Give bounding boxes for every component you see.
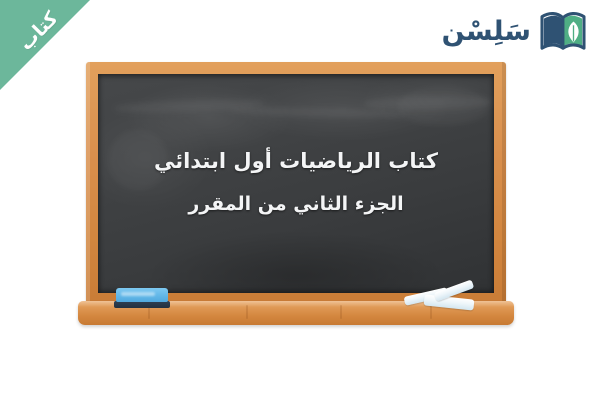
open-book-icon (540, 10, 586, 52)
eraser-base (114, 301, 170, 308)
wood-grain (246, 305, 248, 319)
poster-canvas: كتاب سَلِسْن كتاب الرياضيات أول ابتدائي … (0, 0, 600, 400)
brand-logo[interactable]: سَلِسْن (442, 10, 586, 52)
chalkboard: كتاب الرياضيات أول ابتدائي الجزء الثاني … (86, 62, 506, 305)
eraser-top (116, 288, 168, 302)
board-text-block: كتاب الرياضيات أول ابتدائي الجزء الثاني … (86, 148, 506, 217)
chalk-smudge (363, 95, 493, 111)
chalk-smudge (228, 106, 408, 120)
chalk-smudge (398, 86, 488, 126)
board-title-line-1: كتاب الرياضيات أول ابتدائي (86, 148, 506, 174)
brand-logo-text: سَلِسْن (442, 18, 531, 45)
chalkboard-eraser-icon (116, 288, 168, 308)
wood-grain (340, 305, 342, 319)
chalk-smudge (114, 97, 264, 114)
wood-grain (430, 305, 432, 319)
board-title-line-2: الجزء الثاني من المقرر (86, 193, 506, 217)
